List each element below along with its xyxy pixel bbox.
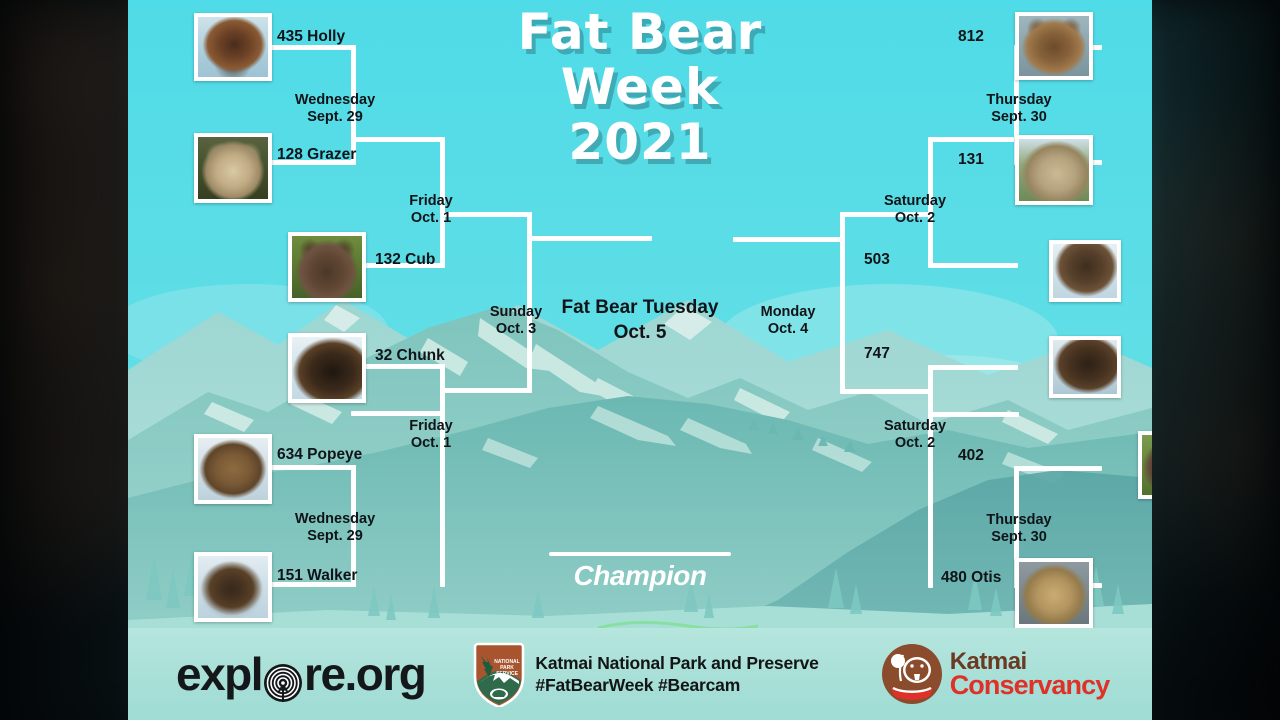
round-date-right-r2-lower-num: Oct. 2	[895, 435, 935, 451]
katmai-wordmark-line-2: Conservancy	[950, 673, 1110, 699]
bracket-line-right-r1m2-top	[1014, 466, 1102, 471]
round-date-right-r2-upper: Saturday Oct. 2	[840, 193, 990, 227]
svg-text:SERVICE: SERVICE	[496, 671, 519, 677]
round-date-right-r2-lower: Saturday Oct. 2	[840, 418, 990, 452]
round-date-left-r2-upper-num: Oct. 1	[411, 210, 451, 226]
bracket-line-left-r1m1-out	[351, 137, 445, 142]
bear-photo-131-image	[1019, 139, 1089, 201]
bear-photo-435-holly-image	[198, 17, 268, 77]
round-date-right-r2-lower-day: Saturday	[884, 418, 946, 434]
bear-photo-132-cub[interactable]	[288, 232, 366, 302]
final-round-name: Fat Bear Tuesday	[562, 297, 719, 318]
round-date-right-r1m2-day: Thursday	[986, 512, 1051, 528]
final-round-date: Oct. 5	[614, 322, 667, 343]
final-round-label: Fat Bear Tuesday Oct. 5	[510, 296, 770, 345]
bear-label-812: 812	[958, 28, 984, 46]
national-park-service-arrowhead-icon: NATIONAL PARK SERVICE	[473, 641, 525, 707]
bracket-line-right-r1m1-out	[928, 137, 1019, 142]
round-date-left-r2-lower-num: Oct. 1	[411, 435, 451, 451]
bear-photo-812[interactable]	[1015, 12, 1093, 80]
bear-photo-747[interactable]	[1049, 336, 1121, 398]
katmai-park-text: Katmai National Park and Preserve #FatBe…	[535, 652, 818, 697]
bear-label-32-chunk: 32 Chunk	[375, 347, 445, 365]
round-date-left-r1m2-day: Wednesday	[295, 511, 375, 527]
bear-photo-747-image	[1053, 340, 1117, 394]
bear-label-435-holly: 435 Holly	[277, 28, 345, 46]
bear-photo-402-image	[1142, 435, 1152, 495]
bear-photo-634-popeye[interactable]	[194, 434, 272, 504]
round-date-left-r1m1-num: Sept. 29	[307, 109, 363, 125]
explore-org-logo[interactable]: expl re.org	[176, 647, 425, 701]
fat-bear-week-bracket-poster: Fat Bear Week 2021	[128, 0, 1152, 720]
bear-photo-151-walker[interactable]	[194, 552, 272, 622]
katmai-park-line-2: #FatBearWeek #Bearcam	[535, 674, 818, 696]
round-date-left-r2-upper: Friday Oct. 1	[356, 193, 506, 227]
bracket-line-right-semi-out	[733, 237, 841, 242]
bear-photo-151-walker-image	[198, 556, 268, 618]
bear-photo-128-grazer-image	[198, 137, 268, 199]
bear-label-480-otis: 480 Otis	[941, 569, 1001, 587]
bear-photo-32-chunk-image	[292, 337, 362, 399]
round-date-right-semifinal-num: Oct. 4	[768, 321, 808, 337]
bear-label-128-grazer: 128 Grazer	[277, 146, 356, 164]
bear-label-747: 747	[864, 345, 890, 363]
round-date-left-r1m2: Wednesday Sept. 29	[250, 511, 420, 545]
champion-block: Champion	[510, 552, 770, 592]
round-date-left-r1m1: Wednesday Sept. 29	[250, 92, 420, 126]
bear-label-131: 131	[958, 151, 984, 169]
bracket-line-right-r2-lower-747	[928, 365, 1018, 370]
champion-label: Champion	[510, 560, 770, 592]
bear-photo-812-image	[1019, 16, 1089, 76]
bear-photo-480-otis-image	[1019, 562, 1089, 624]
champion-rule	[549, 552, 731, 556]
round-date-right-r2-upper-num: Oct. 2	[895, 210, 935, 226]
bear-label-503: 503	[864, 251, 890, 269]
bear-photo-128-grazer[interactable]	[194, 133, 272, 203]
round-date-left-r2-lower-day: Friday	[409, 418, 453, 434]
bear-photo-32-chunk[interactable]	[288, 333, 366, 403]
bracket-line-left-r1m2-top	[270, 465, 356, 470]
poster-footer: expl re.org	[128, 628, 1152, 720]
bear-label-151-walker: 151 Walker	[277, 567, 357, 585]
round-date-right-r1m2-num: Sept. 30	[991, 529, 1047, 545]
bear-photo-402[interactable]	[1138, 431, 1152, 499]
round-date-left-r2-lower: Friday Oct. 1	[356, 418, 506, 452]
bracket-line-right-r2-upper-503	[928, 263, 1018, 268]
bracket-line-right-r1m2-out	[928, 412, 1019, 417]
katmai-park-line-1: Katmai National Park and Preserve	[535, 652, 818, 674]
bracket-line-left-r1m2-out	[351, 411, 445, 416]
bracket-line-right-r2-lower-out	[840, 389, 932, 394]
round-date-right-r2-upper-day: Saturday	[884, 193, 946, 209]
round-date-left-r2-upper-day: Friday	[409, 193, 453, 209]
round-date-right-r1m1-day: Thursday	[986, 92, 1051, 108]
katmai-conservancy-wordmark: Katmai Conservancy	[950, 650, 1110, 699]
bear-label-132-cub: 132 Cub	[375, 251, 435, 269]
bracket-line-left-r2-lower-out	[440, 388, 532, 393]
bear-label-634-popeye: 634 Popeye	[277, 446, 362, 464]
round-date-right-r1m1-num: Sept. 30	[991, 109, 1047, 125]
round-date-left-r1m1-day: Wednesday	[295, 92, 375, 108]
bear-photo-132-cub-image	[292, 236, 362, 298]
round-date-right-r1m2: Thursday Sept. 30	[944, 512, 1094, 546]
explore-logo-suffix: re.org	[304, 647, 425, 701]
bracket-line-left-semi-out	[527, 236, 652, 241]
katmai-conservancy-logo[interactable]: Katmai Conservancy	[881, 643, 1110, 705]
labyrinth-spiral-icon	[263, 660, 303, 700]
bear-photo-503[interactable]	[1049, 240, 1121, 302]
bear-photo-634-popeye-image	[198, 438, 268, 500]
bear-photo-131[interactable]	[1015, 135, 1093, 205]
round-date-right-r1m1: Thursday Sept. 30	[944, 92, 1094, 126]
bear-photo-435-holly[interactable]	[194, 13, 272, 81]
bear-photo-480-otis[interactable]	[1015, 558, 1093, 628]
bear-photo-503-image	[1053, 244, 1117, 298]
explore-logo-prefix: expl	[176, 647, 262, 701]
katmai-bear-icon	[881, 643, 943, 705]
round-date-left-r1m2-num: Sept. 29	[307, 528, 363, 544]
